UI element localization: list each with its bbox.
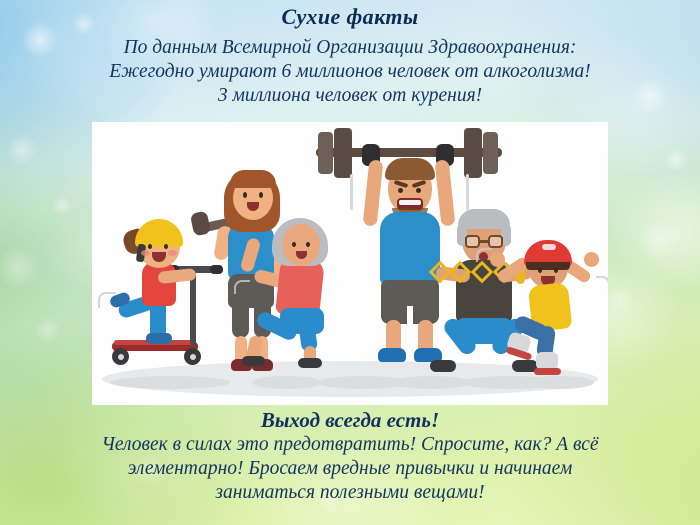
page-title: Сухие факты xyxy=(0,4,700,30)
cta-line-1: Человек в силах это предотвратить! Спрос… xyxy=(14,433,686,457)
woman-hair-front xyxy=(230,170,276,188)
barbell-plate-right-inner xyxy=(464,128,482,178)
glasses-lens-left xyxy=(465,235,480,248)
man-shoe-left xyxy=(378,348,406,362)
motion-lines-elderly-woman xyxy=(234,280,250,294)
boy-hair xyxy=(526,262,570,270)
boy-eye-left xyxy=(538,268,542,273)
motion-lines-girl xyxy=(98,292,116,308)
scooter-wheel-front-hub xyxy=(190,354,196,360)
cta-line-3: заниматься полезными вещами! xyxy=(14,481,686,505)
rollerblade-right-wheels xyxy=(534,368,561,375)
girl-torso xyxy=(142,262,176,306)
elderly-woman-eye-left xyxy=(292,242,296,247)
man-teeth xyxy=(399,200,421,205)
figure-boy-on-rollerblades xyxy=(496,242,608,384)
cta-body: Человек в силах это предотвратить! Спрос… xyxy=(0,433,700,505)
girl-front-shoe xyxy=(146,333,172,344)
illustration-panel xyxy=(92,122,608,405)
glasses-bridge xyxy=(480,240,488,243)
man-eye-left xyxy=(398,188,403,193)
woman-leg-left xyxy=(232,300,249,338)
barbell-plate-left-outer xyxy=(318,132,333,174)
barbell-plate-left-inner xyxy=(334,128,352,178)
intro-text: По данным Всемирной Организации Здравоох… xyxy=(0,36,700,108)
man-eye-right xyxy=(416,188,421,193)
boy-helmet-vent xyxy=(542,244,556,250)
boy-hand-left xyxy=(490,252,505,267)
barbell-plate-right-outer xyxy=(483,132,498,174)
girl-helmet xyxy=(135,219,183,247)
scooter-wheel-rear-hub xyxy=(118,354,124,360)
motion-lines-barbell-left xyxy=(350,174,353,210)
intro-line-1: По данным Всемирной Организации Здравоох… xyxy=(0,36,700,60)
cta-line-2: элементарно! Бросаем вредные привычки и … xyxy=(14,457,686,481)
motion-lines-boy xyxy=(476,248,492,262)
elderly-woman-shoe-back xyxy=(242,356,265,366)
motion-lines-boy-right xyxy=(596,276,608,290)
man-shorts-gap xyxy=(407,306,413,326)
man-arm-left xyxy=(363,159,384,226)
woman-eye-left xyxy=(243,192,247,198)
girl-cheek-right xyxy=(168,250,177,256)
woman-eye-right xyxy=(259,192,263,198)
intro-line-3: 3 миллиона человек от курения! xyxy=(0,84,700,108)
girl-eye-right xyxy=(164,244,168,249)
elderly-man-shoe-left xyxy=(430,360,456,372)
man-hair xyxy=(385,158,435,180)
scooter-stem xyxy=(190,270,196,346)
elderly-woman-eye-right xyxy=(306,242,310,247)
cta-title: Выход всегда есть! xyxy=(0,408,700,433)
girl-eye-left xyxy=(148,244,152,249)
intro-line-2: Ежегодно умирают 6 миллионов человек от … xyxy=(0,60,700,84)
boy-eye-right xyxy=(554,268,558,273)
girl-cheek-left xyxy=(141,250,150,256)
boy-hand-right xyxy=(584,252,599,267)
motion-lines-barbell-right xyxy=(466,174,469,210)
slide-canvas: Сухие факты По данным Всемирной Организа… xyxy=(0,0,700,525)
